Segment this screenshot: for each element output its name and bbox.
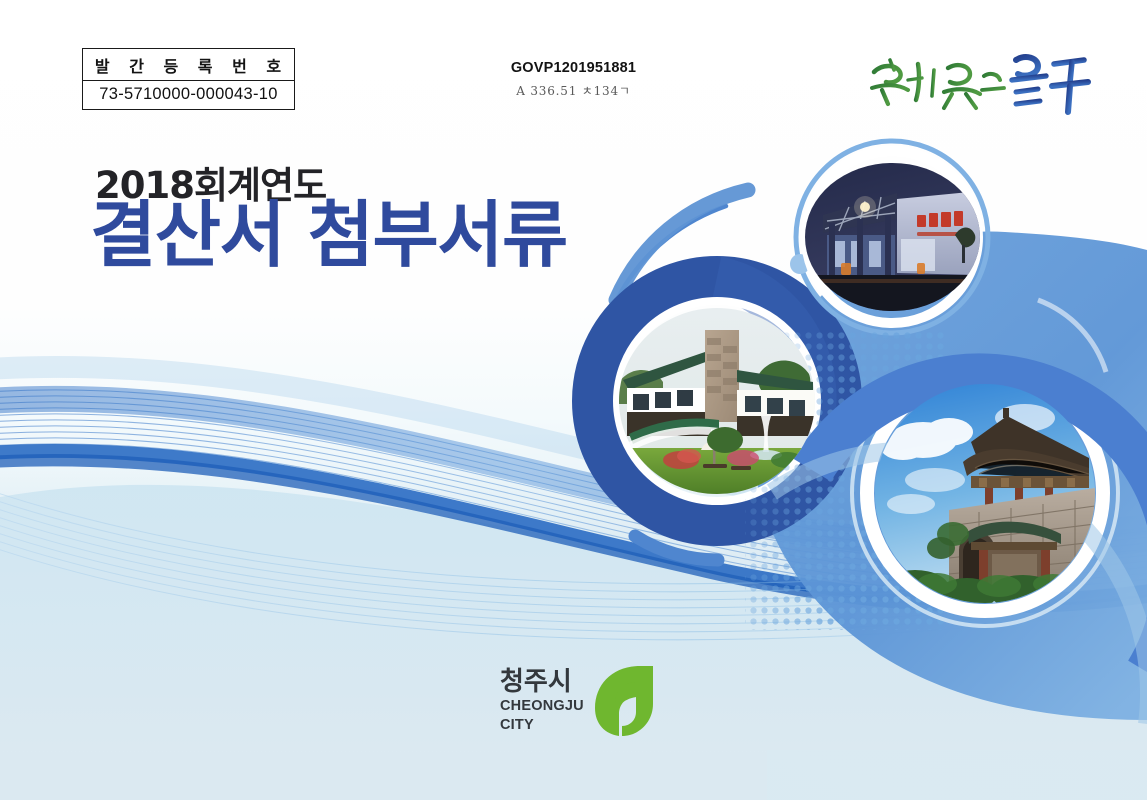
city-name-english-1: CHEONGJU (500, 698, 584, 714)
registration-number-box: 발 간 등 록 번 호 73-5710000-000043-10 (82, 48, 295, 110)
city-name-english-2: CITY (500, 717, 584, 733)
photo-building (619, 308, 815, 494)
city-name-korean: 청주시 (500, 669, 584, 696)
city-logo-text: 청주시 CHEONGJU CITY (500, 669, 584, 733)
city-slogan (866, 46, 1091, 118)
cheongju-city-logo: 청주시 CHEONGJU CITY (500, 660, 670, 742)
cheongju-leaf-emblem-icon (593, 664, 655, 738)
title-main-line: 결산서 첨부서류 (90, 198, 567, 274)
photo-fortress (875, 384, 1095, 603)
publication-cover: 발 간 등 록 번 호 73-5710000-000043-10 GOVP120… (0, 0, 1147, 800)
photo-airport (805, 163, 980, 311)
